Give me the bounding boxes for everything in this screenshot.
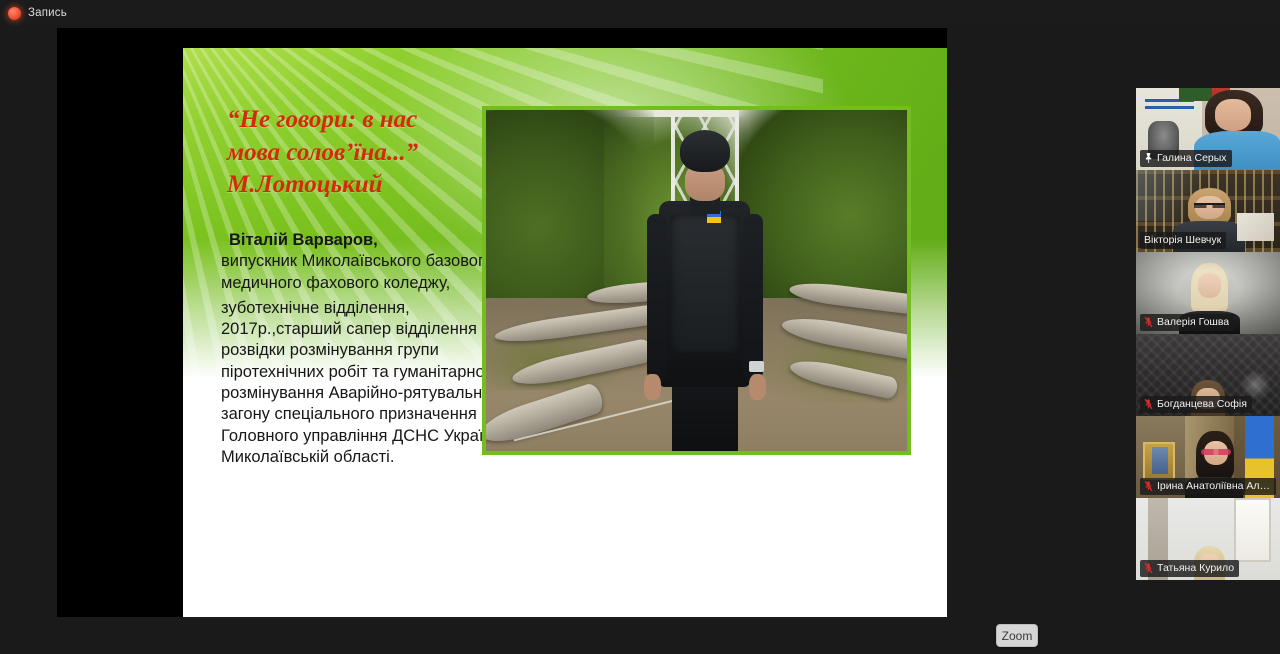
recording-indicator[interactable]: Запись <box>0 0 77 26</box>
microphone-muted-icon <box>1144 480 1153 492</box>
participant-tile[interactable]: Татьяна Курило <box>1136 498 1280 580</box>
participant-nameplate: Богданцева Софія <box>1140 396 1252 413</box>
microphone-muted-icon <box>1144 562 1153 574</box>
presentation-slide: “Не говори: в нас мова солов’їна...” М.Л… <box>183 48 947 617</box>
soldier-body-armor <box>670 214 741 355</box>
participant-tile[interactable]: Галина Серых <box>1136 88 1280 170</box>
microphone-muted-icon <box>1144 316 1153 328</box>
participant-tile[interactable]: Валерія Гошва <box>1136 252 1280 334</box>
microphone-muted-icon <box>1144 398 1153 410</box>
participant-name: Ірина Анатоліївна Але… <box>1157 479 1271 493</box>
soldier-helmet <box>680 130 731 172</box>
participant-nameplate: Татьяна Курило <box>1140 560 1239 577</box>
person-name: Віталій Варваров, <box>221 230 521 251</box>
participant-filmstrip[interactable]: Галина Серых Вікторія Шевчук <box>1136 88 1280 580</box>
participant-name: Галина Серых <box>1157 151 1227 165</box>
soldier-arm-left <box>647 214 667 381</box>
recording-label: Запись <box>28 7 67 19</box>
soldier-hand-left <box>644 374 660 400</box>
screen-share-area[interactable]: “Не говори: в нас мова солов’їна...” М.Л… <box>57 28 947 617</box>
participant-tile[interactable]: Богданцева Софія <box>1136 334 1280 416</box>
participant-name: Вікторія Шевчук <box>1144 233 1221 247</box>
participant-tile[interactable]: Вікторія Шевчук <box>1136 170 1280 252</box>
sapper-photo <box>482 106 911 455</box>
participant-nameplate: Вікторія Шевчук <box>1140 232 1226 249</box>
slide-body-text: Віталій Варваров, випускник Миколаївсько… <box>221 230 521 468</box>
participant-name: Татьяна Курило <box>1157 561 1234 575</box>
zoom-watermark-button[interactable]: Zoom <box>996 624 1038 647</box>
soldier-arm-right <box>743 214 763 381</box>
soldier-hand-right <box>749 374 765 400</box>
participant-name: Валерія Гошва <box>1157 315 1229 329</box>
soldier-legs <box>672 380 738 451</box>
participant-name: Богданцева Софія <box>1157 397 1247 411</box>
bio-paragraph-2: зуботехнічне відділення, 2017р.,старший … <box>221 298 521 468</box>
participant-nameplate: Галина Серых <box>1140 150 1232 167</box>
record-dot-icon <box>8 7 21 20</box>
photo-soldier <box>642 130 768 451</box>
pin-icon <box>1144 152 1153 164</box>
recording-bar: Запись <box>0 0 1280 26</box>
bio-paragraph-1: випускник Миколаївського базового медичн… <box>221 251 521 294</box>
participant-nameplate: Валерія Гошва <box>1140 314 1234 331</box>
soldier-wristwatch <box>749 361 764 372</box>
participant-nameplate: Ірина Анатоліївна Але… <box>1140 478 1276 495</box>
participant-tile[interactable]: Ірина Анатоліївна Але… <box>1136 416 1280 498</box>
